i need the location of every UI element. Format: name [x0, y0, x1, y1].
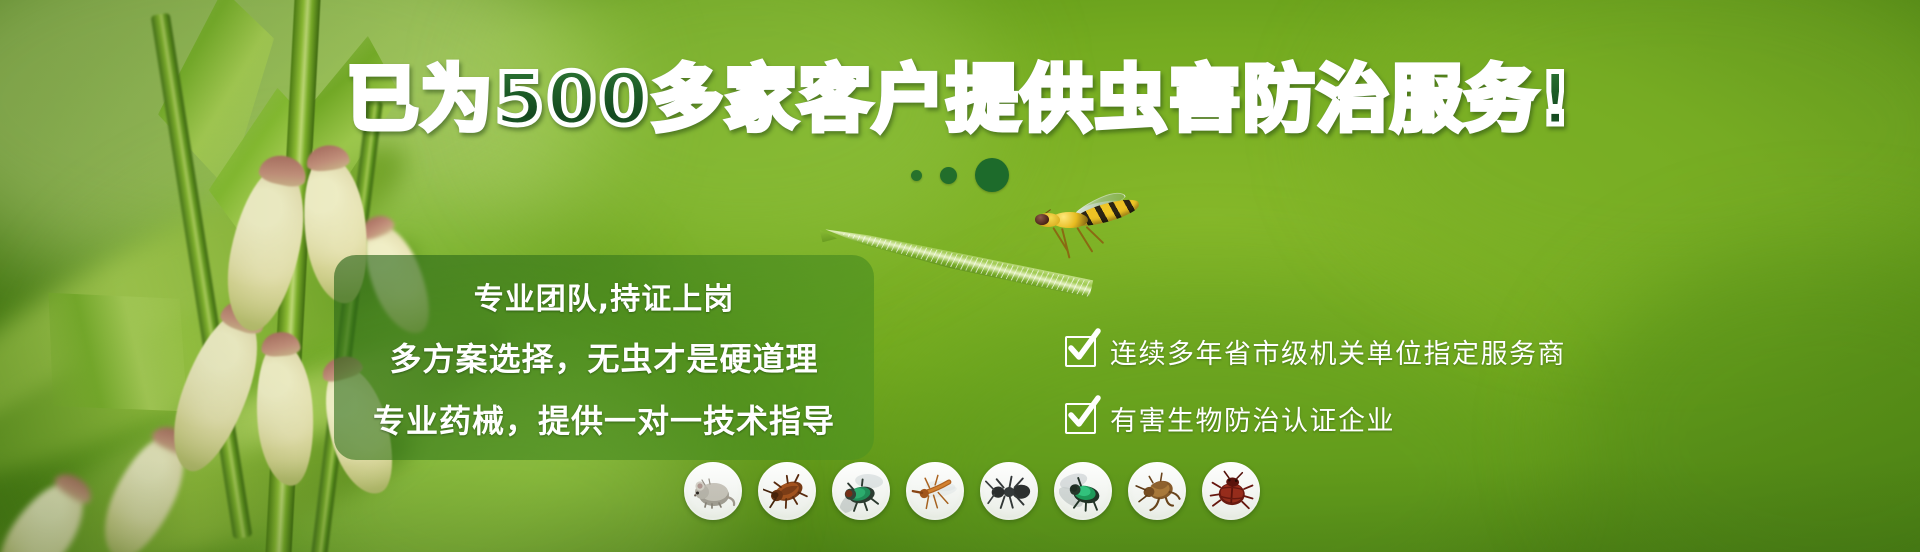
credential-item: 有害生物防治认证企业	[1065, 399, 1605, 438]
checkbox-checked-icon	[1065, 336, 1096, 367]
flea-icon[interactable]	[1128, 462, 1186, 520]
greenbottle-fly-icon[interactable]	[1054, 462, 1112, 520]
credential-label: 连续多年省市级机关单位指定服务商	[1110, 332, 1566, 371]
housefly-icon[interactable]	[832, 462, 890, 520]
claim-item: 多方案选择，无虫才是硬道理	[360, 334, 848, 380]
credential-label: 有害生物防治认证企业	[1110, 399, 1395, 438]
cockroach-icon[interactable]	[758, 462, 816, 520]
claims-panel: 专业团队,持证上岗 多方案选择，无虫才是硬道理 专业药械，提供一对一技术指导	[334, 255, 874, 460]
bedbug-icon[interactable]	[1202, 462, 1260, 520]
credential-list: 连续多年省市级机关单位指定服务商 有害生物防治认证企业	[1065, 332, 1605, 438]
decorative-dot-large	[975, 158, 1009, 192]
decorative-dot-small	[911, 170, 922, 181]
pest-control-hero-banner: 已为500多家客户提供虫害防治服务! 专业团队,持证上岗 多方案选择，无虫才是硬…	[0, 0, 1920, 552]
mouse-icon[interactable]	[684, 462, 742, 520]
checkbox-checked-icon	[1065, 403, 1096, 434]
claim-item: 专业团队,持证上岗	[360, 274, 848, 318]
decorative-dot-group	[0, 158, 1920, 192]
pest-icon-row	[684, 462, 1260, 520]
ant-icon[interactable]	[980, 462, 1038, 520]
claim-item: 专业药械，提供一对一技术指导	[360, 396, 848, 442]
credential-item: 连续多年省市级机关单位指定服务商	[1065, 332, 1605, 371]
decorative-dot-medium	[940, 167, 957, 184]
mosquito-icon[interactable]	[906, 462, 964, 520]
